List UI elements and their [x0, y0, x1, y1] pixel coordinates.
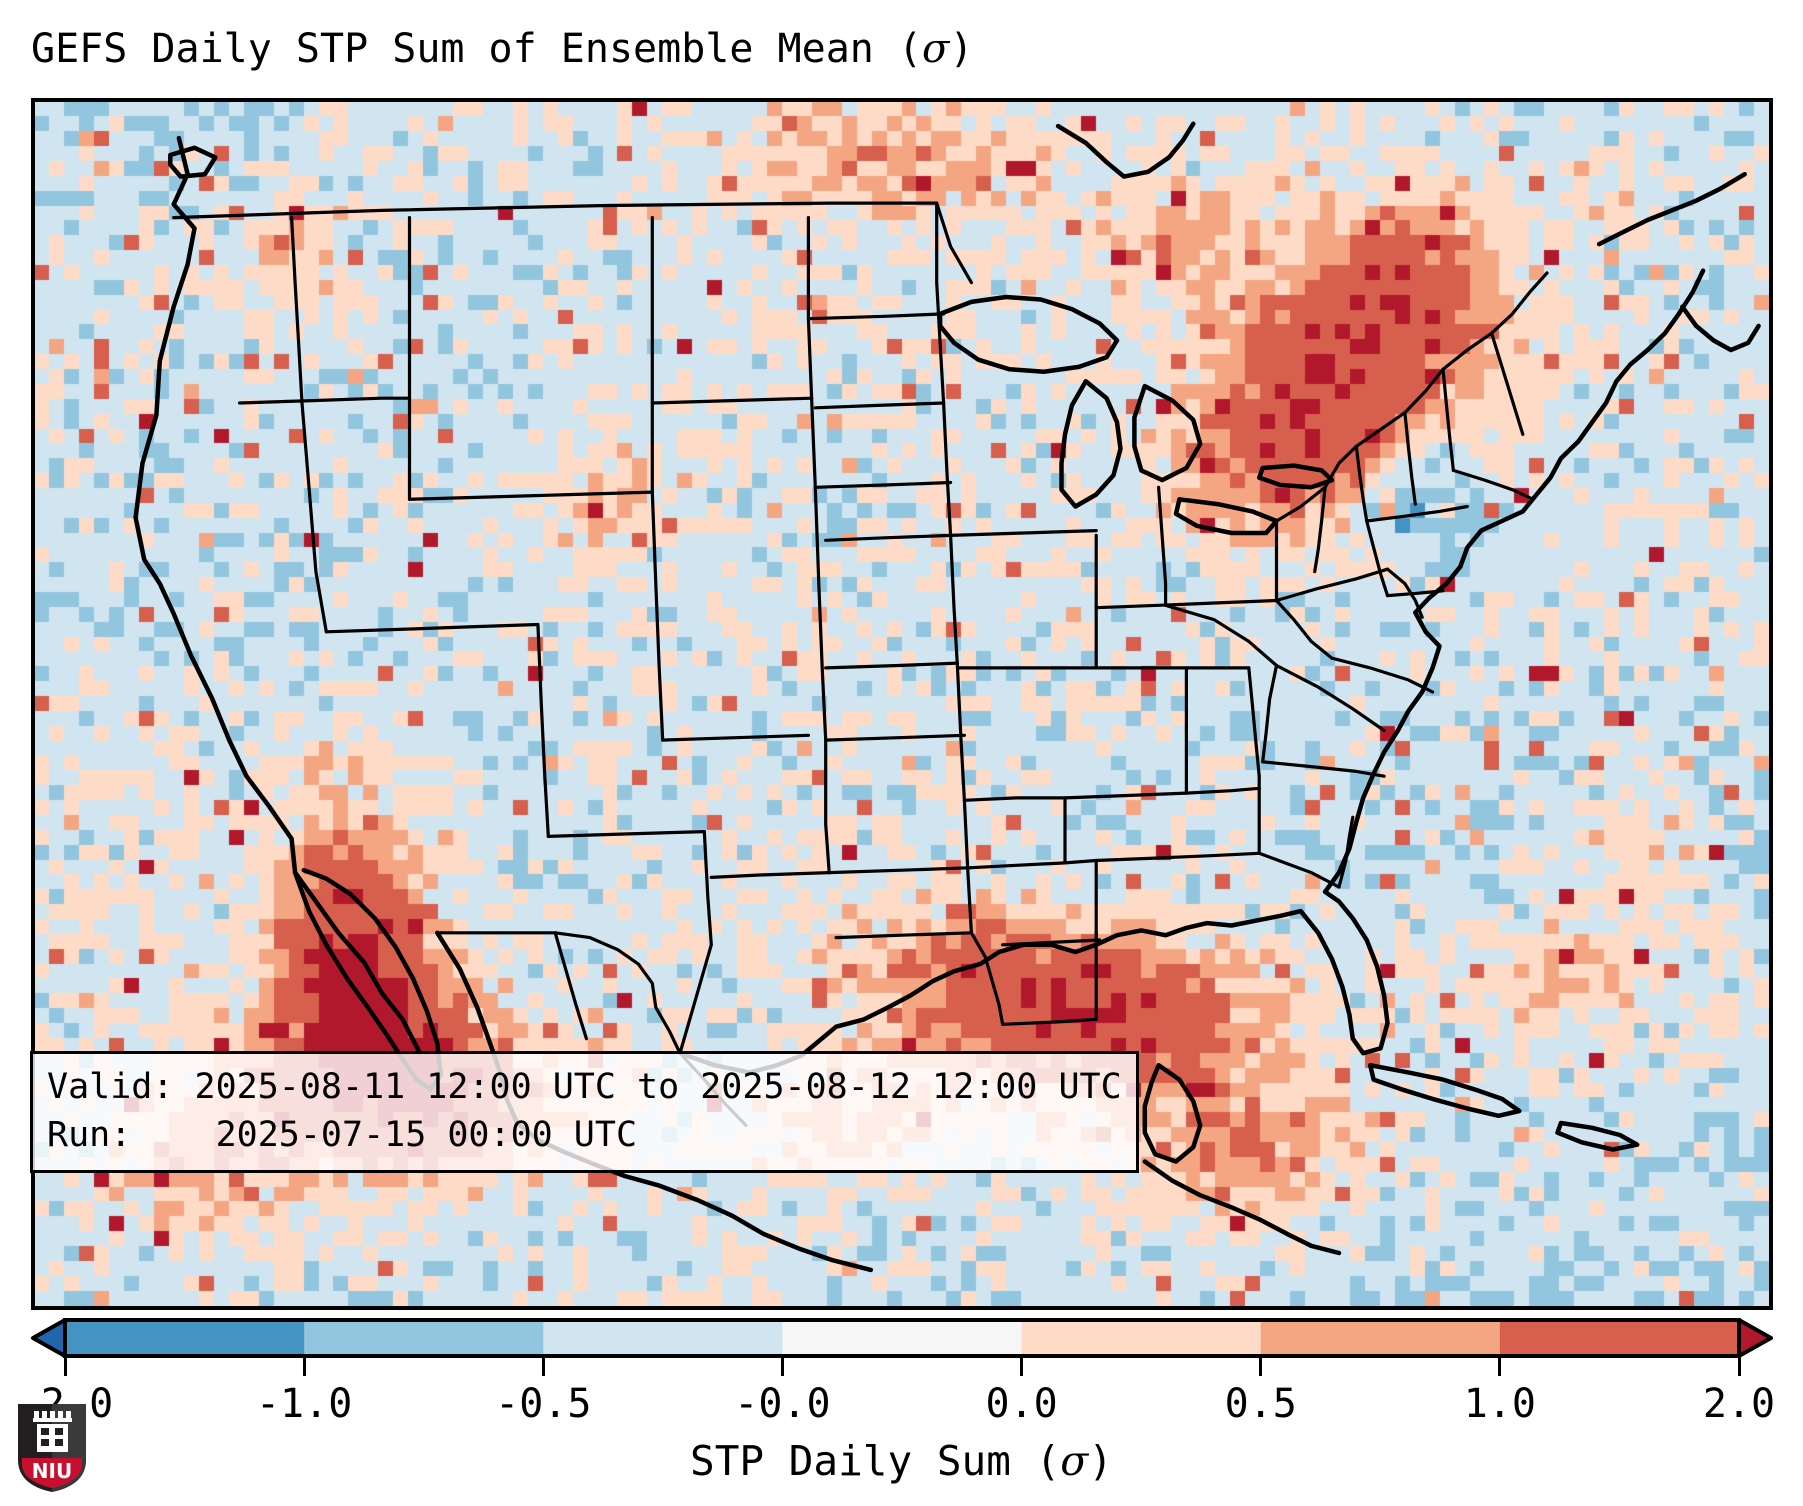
colorbar-tick-labels: -2.0-1.0-0.5-0.00.00.51.02.0: [0, 1378, 1803, 1430]
colorbar-tick-label: -0.0: [734, 1378, 830, 1430]
colorbar-tickmarks: [31, 1358, 1773, 1378]
colorbar-tickmark: [542, 1358, 545, 1376]
colorbar-tickmark: [64, 1358, 67, 1376]
colorbar[interactable]: [31, 1318, 1773, 1358]
colorbar-tick-label: -0.5: [495, 1378, 591, 1430]
title-text-after: ): [949, 26, 973, 72]
niu-logo-text: NIU: [32, 1459, 72, 1483]
colorbar-tickmark: [781, 1358, 784, 1376]
colorbar-tickmark: [1020, 1358, 1023, 1376]
colorbar-tick-label: 0.0: [985, 1378, 1057, 1430]
colorbar-tick-label: 2.0: [1703, 1378, 1775, 1430]
colorbar-tickmark: [303, 1358, 306, 1376]
colorbar-tick-label: 0.5: [1225, 1378, 1297, 1430]
annotation-run-line: Run: 2025-07-15 00:00 UTC: [47, 1111, 1122, 1159]
colorbar-axis-label: STP Daily Sum (σ): [0, 1432, 1803, 1490]
colorbar-tickmark: [1738, 1358, 1741, 1376]
cbar-label-after: ): [1088, 1437, 1113, 1485]
title-sigma-symbol: σ: [922, 26, 949, 72]
colorbar-tick-label: -1.0: [256, 1378, 352, 1430]
annotation-valid-line: Valid: 2025-08-11 12:00 UTC to 2025-08-1…: [47, 1063, 1122, 1111]
figure-canvas: GEFS Daily STP Sum of Ensemble Mean (σ) …: [0, 0, 1803, 1506]
page-title: GEFS Daily STP Sum of Ensemble Mean (σ): [31, 18, 1771, 80]
colorbar-tick-label: 1.0: [1464, 1378, 1536, 1430]
colorbar-tickmark: [1259, 1358, 1262, 1376]
colorbar-gradient: [31, 1318, 1773, 1358]
cbar-sigma-symbol: σ: [1060, 1437, 1088, 1485]
cbar-label-before: STP Daily Sum (: [690, 1437, 1060, 1485]
title-text-before: GEFS Daily STP Sum of Ensemble Mean (: [31, 26, 922, 72]
colorbar-tickmark: [1498, 1358, 1501, 1376]
valid-run-annotation-box: Valid: 2025-08-11 12:00 UTC to 2025-08-1…: [30, 1051, 1139, 1173]
niu-logo: NIU: [16, 1402, 88, 1494]
